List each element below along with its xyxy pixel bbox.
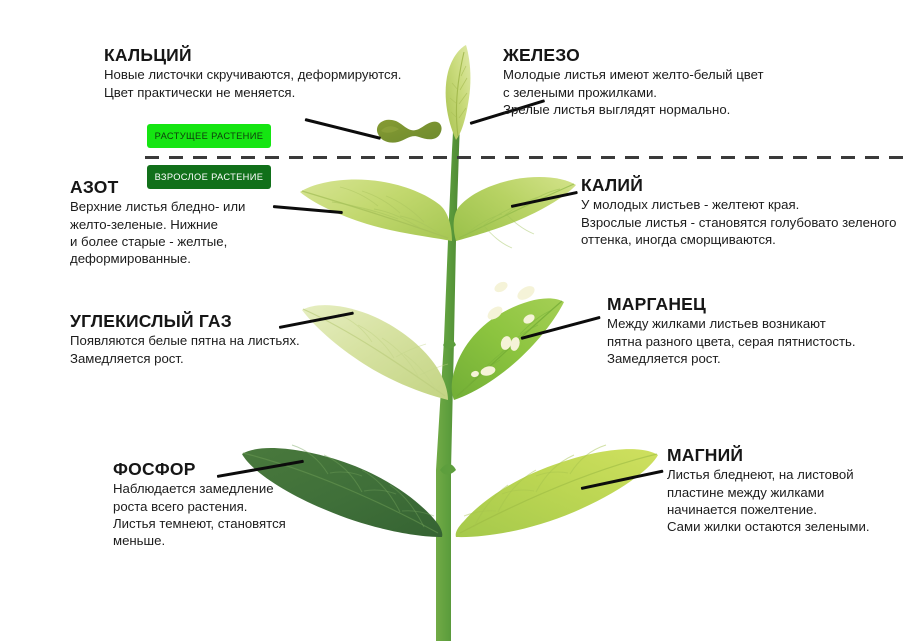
growth-stage-divider [145,156,905,159]
callout-phosphorus-line-4: меньше. [113,532,286,549]
callout-manganese-body: Между жилками листьев возникают пятна ра… [607,315,856,366]
callout-magnesium-title: МАГНИЙ [667,446,870,464]
callout-nitrogen-title: АЗОТ [70,178,245,196]
leaf-calcium [377,120,442,143]
callout-potassium-line-3: оттенка, иногда сморщиваются. [581,231,896,248]
callout-phosphorus: ФОСФОР Наблюдается замедление роста всег… [113,460,286,549]
callout-iron-line-1: Молодые листья имеют желто-белый цвет [503,66,764,83]
callout-phosphorus-title: ФОСФОР [113,460,286,478]
badge-growing-plant[interactable]: РАСТУЩЕЕ РАСТЕНИЕ [147,124,271,148]
callout-magnesium-line-4: Сами жилки остаются зелеными. [667,518,870,535]
callout-calcium-body: Новые листочки скручиваются, деформируют… [104,66,401,100]
callout-calcium: КАЛЬЦИЙ Новые листочки скручиваются, деф… [104,46,401,101]
manganese-leaf-spots [470,280,537,378]
callout-magnesium: МАГНИЙ Листья бледнеют, на листовой плас… [667,446,870,535]
badge-growing-plant-label: РАСТУЩЕЕ РАСТЕНИЕ [155,131,264,141]
plant-stem-nodes [440,340,456,475]
callout-phosphorus-line-1: Наблюдается замедление [113,480,286,497]
leader-line-nitrogen [273,205,343,214]
leaf-magnesium [456,445,658,537]
callout-nitrogen-body: Верхние листья бледно- или желто-зеленые… [70,198,245,267]
callout-phosphorus-line-3: Листья темнеют, становятся [113,515,286,532]
callout-iron-title: ЖЕЛЕЗО [503,46,764,64]
callout-magnesium-line-1: Листья бледнеют, на листовой [667,466,870,483]
nutrient-deficiency-infographic: РАСТУЩЕЕ РАСТЕНИЕ ВЗРОСЛОЕ РАСТЕНИЕ КАЛЬ… [0,0,910,641]
callout-carbon-dioxide-line-1: Появляются белые пятна на листьях. [70,332,300,349]
callout-potassium-line-2: Взрослые листья - становятся голубовато … [581,214,896,231]
callout-carbon-dioxide-title: УГЛЕКИСЛЫЙ ГАЗ [70,312,300,330]
callout-potassium: КАЛИЙ У молодых листьев - желтеют края. … [581,176,896,248]
callout-carbon-dioxide: УГЛЕКИСЛЫЙ ГАЗ Появляются белые пятна на… [70,312,300,367]
plant-stem [436,95,461,641]
callout-nitrogen-line-1: Верхние листья бледно- или [70,198,245,215]
callout-magnesium-body: Листья бледнеют, на листовой пластине ме… [667,466,870,535]
callout-nitrogen-line-4: деформированные. [70,250,245,267]
leader-line-magnesium [581,470,664,490]
callout-calcium-line-1: Новые листочки скручиваются, деформируют… [104,66,401,83]
callout-iron: ЖЕЛЕЗО Молодые листья имеют желто-белый … [503,46,764,118]
leaf-potassium [454,177,576,248]
callout-calcium-title: КАЛЬЦИЙ [104,46,401,64]
callout-potassium-body: У молодых листьев - желтеют края. Взросл… [581,196,896,247]
callout-nitrogen: АЗОТ Верхние листья бледно- или желто-зе… [70,178,245,267]
callout-nitrogen-line-2: желто-зеленые. Нижние [70,216,245,233]
leaf-iron [446,45,471,140]
leader-line-calcium [305,118,381,139]
callout-calcium-line-2: Цвет практически не меняется. [104,84,401,101]
callout-manganese-line-3: Замедляется рост. [607,350,856,367]
leaf-manganese [452,280,564,400]
callout-manganese-line-2: пятна разного цвета, серая пятнистость. [607,333,856,350]
callout-manganese-line-1: Между жилками листьев возникают [607,315,856,332]
callout-iron-line-2: с зелеными прожилками. [503,84,764,101]
callout-potassium-line-1: У молодых листьев - желтеют края. [581,196,896,213]
leader-line-potassium [511,191,578,208]
leader-line-manganese [521,316,601,340]
callout-iron-body: Молодые листья имеют желто-белый цвет с … [503,66,764,117]
callout-magnesium-line-2: пластине между жилками [667,484,870,501]
callout-manganese: МАРГАНЕЦ Между жилками листьев возникают… [607,295,856,367]
callout-phosphorus-body: Наблюдается замедление роста всего расте… [113,480,286,549]
callout-carbon-dioxide-body: Появляются белые пятна на листьях. Замед… [70,332,300,366]
callout-iron-line-3: Зрелые листья выглядят нормально. [503,101,764,118]
callout-phosphorus-line-2: роста всего растения. [113,498,286,515]
callout-nitrogen-line-3: и более старые - желтые, [70,233,245,250]
callout-magnesium-line-3: начинается пожелтение. [667,501,870,518]
callout-manganese-title: МАРГАНЕЦ [607,295,856,313]
callout-carbon-dioxide-line-2: Замедляется рост. [70,350,300,367]
callout-potassium-title: КАЛИЙ [581,176,896,194]
